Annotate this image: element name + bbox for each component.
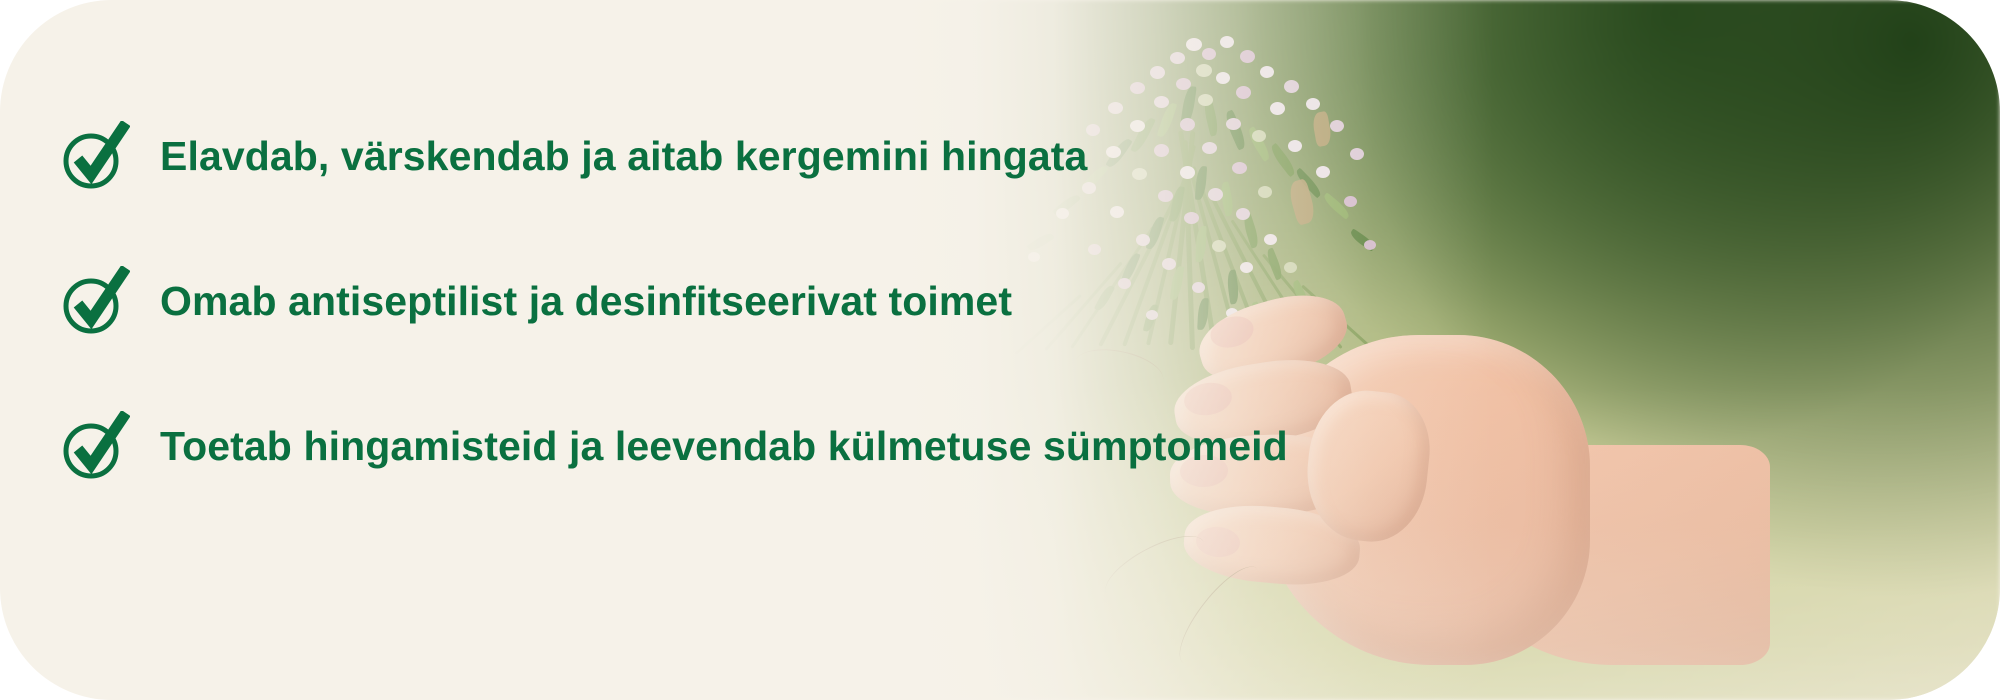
benefit-text: Omab antiseptilist ja desinfitseerivat t… [160, 279, 1012, 324]
circled-check-icon [58, 121, 130, 193]
circled-check-icon [58, 411, 130, 483]
benefit-row-1: Elavdab, värskendab ja aitab kergemini h… [58, 108, 1118, 206]
benefits-banner: Elavdab, värskendab ja aitab kergemini h… [0, 0, 2000, 700]
hand [1140, 295, 1700, 700]
benefit-row-2: Omab antiseptilist ja desinfitseerivat t… [58, 253, 1118, 351]
benefits-list: Elavdab, värskendab ja aitab kergemini h… [58, 108, 1118, 496]
benefit-row-3: Toetab hingamisteid ja leevendab külmetu… [58, 398, 1118, 496]
benefit-text: Elavdab, värskendab ja aitab kergemini h… [160, 134, 1087, 179]
circled-check-icon [58, 266, 130, 338]
benefit-text: Toetab hingamisteid ja leevendab külmetu… [160, 424, 1288, 469]
